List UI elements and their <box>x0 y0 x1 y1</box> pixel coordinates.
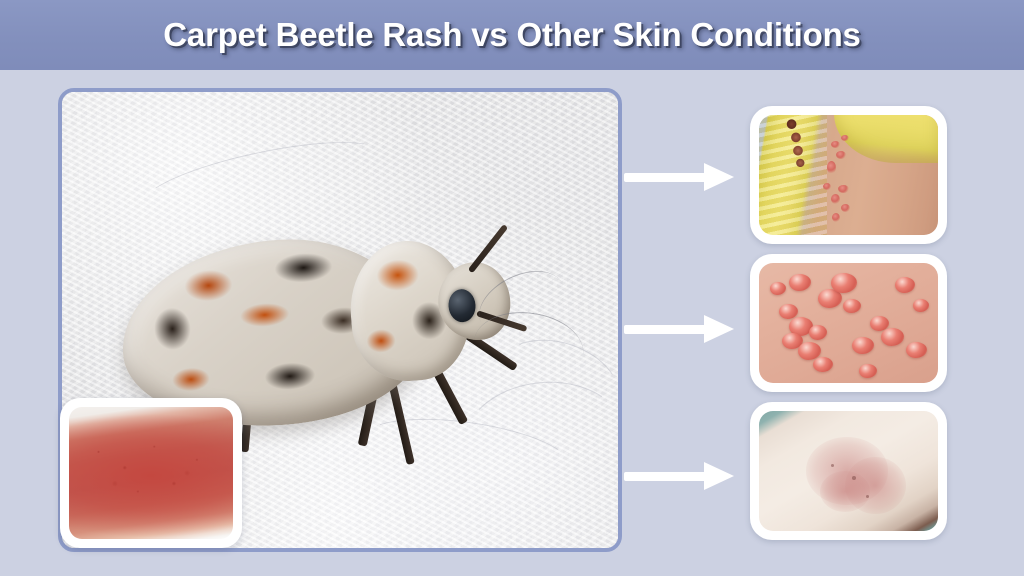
rash-speck <box>852 476 856 480</box>
content-stage <box>0 70 1024 576</box>
papule <box>895 277 915 293</box>
rash-speck <box>831 464 834 467</box>
papule <box>852 337 874 354</box>
thumbnail-raised-red-papules[interactable] <box>750 254 947 392</box>
bite-mark <box>827 161 836 174</box>
papule <box>789 274 811 291</box>
papule <box>881 328 904 346</box>
papule <box>906 342 927 358</box>
inset-image-frame[interactable] <box>60 398 242 548</box>
papule <box>859 364 877 378</box>
papule <box>843 299 861 313</box>
bead-strand <box>780 117 809 167</box>
yellow-drape <box>834 115 938 163</box>
bite-mark <box>831 194 840 204</box>
thumbnail-raised-red-papules-photo <box>759 263 938 383</box>
arrow-head-icon <box>704 163 734 191</box>
arrow-head-icon <box>704 315 734 343</box>
bite-mark <box>832 213 840 222</box>
rash-speckle-texture <box>69 407 233 539</box>
thumbnail-faint-rash[interactable] <box>750 402 947 540</box>
papule <box>770 282 786 295</box>
header-band: Carpet Beetle Rash vs Other Skin Conditi… <box>0 0 1024 70</box>
bite-mark <box>841 204 850 212</box>
papule <box>831 273 857 293</box>
papule <box>913 299 929 312</box>
arrow-shaft <box>624 325 710 334</box>
arrow-to-comparison-1 <box>624 163 736 191</box>
arrow-shaft <box>624 472 710 481</box>
arrow-to-comparison-2 <box>624 315 736 343</box>
thumbnail-bed-bug-bites-photo <box>759 115 938 235</box>
thumbnail-bed-bug-bites[interactable] <box>750 106 947 244</box>
arrow-shaft <box>624 173 710 182</box>
papule <box>779 304 798 319</box>
papule <box>813 357 833 372</box>
arrow-to-comparison-3 <box>624 462 736 490</box>
bite-mark <box>831 141 840 148</box>
rash-blotch <box>820 471 870 512</box>
bite-mark <box>836 151 846 159</box>
arrow-head-icon <box>704 462 734 490</box>
bite-mark <box>823 183 831 190</box>
carpet-beetle-rash-photo <box>69 407 233 539</box>
papule <box>809 325 827 340</box>
page-title: Carpet Beetle Rash vs Other Skin Conditi… <box>163 16 860 54</box>
thumbnail-faint-rash-photo <box>759 411 938 531</box>
bite-mark <box>838 185 849 193</box>
